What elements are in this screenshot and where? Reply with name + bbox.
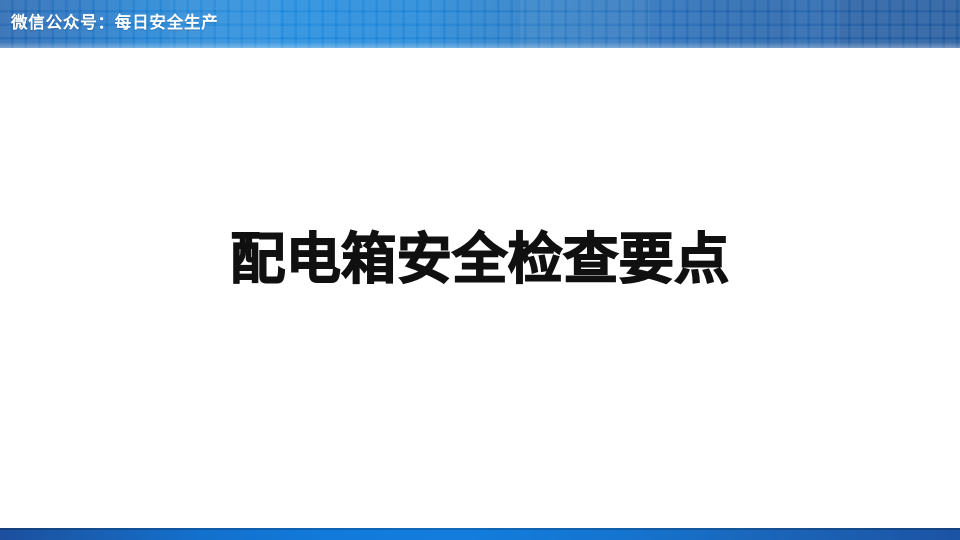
wechat-account-label: 微信公众号：每日安全生产	[11, 0, 219, 46]
bottom-accent-bar-edge	[0, 528, 960, 530]
bottom-accent-bar	[0, 528, 960, 540]
page-title: 配电箱安全检查要点	[0, 229, 960, 290]
slide-canvas: 微信公众号：每日安全生产 配电箱安全检查要点	[0, 0, 960, 540]
top-banner: 微信公众号：每日安全生产	[0, 0, 960, 48]
slide-body: 配电箱安全检查要点	[0, 48, 960, 528]
